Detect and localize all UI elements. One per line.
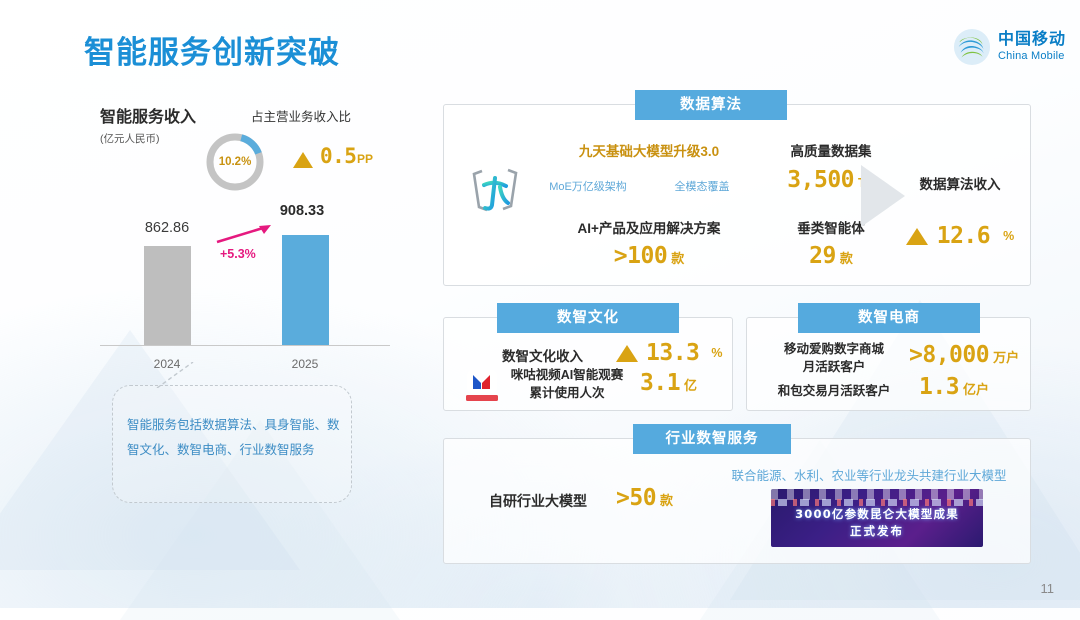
data-revenue-value-group: 12.6%: [896, 223, 1024, 249]
ecommerce-item2-title: 和包交易月活跃客户: [761, 380, 907, 399]
panel-data-algorithm: 数据算法 九天基础大模型升级3.0 MoE万亿级架构 全模态覆盖 AI+产品及应…: [443, 104, 1031, 286]
model-tag-2: 全模态覆盖: [648, 178, 756, 194]
industry-item1-value: >50: [616, 485, 656, 511]
dataset-title: 高质量数据集: [762, 140, 900, 160]
callout-text: 智能服务包括数据算法、具身智能、数智文化、数智电商、行业数智服务: [127, 413, 341, 463]
migu-value: 3.1: [640, 370, 680, 396]
migu-unit: 亿: [684, 375, 697, 394]
ecommerce-item1-title: 移动爱购数字商城 月活跃客户: [761, 340, 907, 376]
model-title: 九天基础大模型升级3.0: [540, 140, 758, 160]
industry-item1-value-group: >50款: [616, 485, 673, 511]
ecommerce-item1-value-group: >8,000万户: [909, 342, 1019, 368]
solution-title: AI+产品及应用解决方案: [540, 217, 758, 237]
culture-revenue-title: 数智文化收入: [502, 345, 583, 365]
stage-headline-line-2: 正式发布: [771, 523, 983, 539]
growth-arrow-icon: [215, 224, 273, 246]
growth-label: +5.3%: [220, 247, 256, 261]
culture-up-arrow-icon: [616, 345, 638, 362]
migu-title: 咪咕视频AI智能观赛 累计使用人次: [504, 366, 630, 402]
industry-item1-title: 自研行业大模型: [489, 491, 587, 511]
stage-photo: 3000亿参数昆仑大模型成果 正式发布: [771, 489, 983, 547]
panel-digital-culture: 数智文化 数智文化收入 13.3% 咪咕视频AI智能观赛 累计使用人次 3.1亿: [443, 317, 733, 411]
china-mobile-mark-icon: [953, 28, 991, 66]
migu-value-group: 3.1亿: [640, 370, 697, 396]
industry-subtitle: 联合能源、水利、农业等行业龙头共建行业大模型: [714, 465, 1024, 484]
stage-partner-logos: [771, 499, 983, 506]
ratio-delta-value: 0.5: [320, 144, 356, 168]
panel-digital-ecommerce: 数智电商 移动爱购数字商城 月活跃客户 >8,000万户 和包交易月活跃客户 1…: [746, 317, 1031, 411]
bar-2025: [282, 235, 329, 345]
revenue-bar-chart: 862.86 908.33 +5.3% 2024 2025: [100, 195, 400, 345]
data-revenue-up-arrow-icon: [906, 228, 928, 245]
agent-value-group: 29款: [762, 243, 900, 269]
data-revenue-title: 数据算法收入: [896, 173, 1024, 193]
logo-text-cn: 中国移动: [998, 32, 1066, 48]
migu-logo-icon: [464, 370, 500, 402]
chart-axis-line: [100, 345, 390, 347]
page-number: 11: [1041, 581, 1055, 596]
bar-2024: [144, 246, 191, 345]
panel-industry-service: 行业数智服务 自研行业大模型 >50款 联合能源、水利、农业等行业龙头共建行业大…: [443, 438, 1031, 564]
culture-revenue-value-group: 13.3%: [616, 340, 723, 366]
callout-tail-icon: [155, 362, 199, 388]
ecommerce-item1-unit: 万户: [993, 347, 1019, 366]
ecommerce-item2-unit: 亿户: [963, 379, 989, 398]
culture-revenue-value: 13.3: [646, 340, 699, 366]
ratio-up-arrow-icon: [293, 152, 313, 168]
agent-unit: 款: [840, 251, 853, 266]
model-tag-1: MoE万亿级架构: [534, 178, 642, 194]
ecommerce-item1-line-1: 移动爱购数字商城: [784, 342, 884, 356]
axis-label-2025: 2025: [245, 357, 365, 371]
data-revenue-value: 12.6: [937, 223, 990, 249]
jiutian-logo-icon: [464, 161, 526, 223]
ecommerce-item1-line-2: 月活跃客户: [803, 360, 866, 374]
ratio-title: 占主营业务收入比: [251, 106, 351, 125]
panel-industry-service-tab: 行业数智服务: [633, 424, 791, 454]
solution-value-group: >100款: [540, 243, 758, 269]
dataset-value: 3,500: [787, 167, 854, 193]
panel-digital-culture-tab: 数智文化: [497, 303, 679, 333]
solution-value: >100: [614, 243, 667, 269]
industry-item1-unit: 款: [660, 490, 673, 509]
page-title: 智能服务创新突破: [84, 27, 340, 72]
migu-title-line-1: 咪咕视频AI智能观赛: [511, 368, 624, 382]
stage-headline-line-1: 3000亿参数昆仑大模型成果: [771, 506, 983, 522]
china-mobile-logo: 中国移动 China Mobile: [953, 28, 1066, 66]
ratio-donut-chart: 10.2%: [203, 130, 267, 194]
bar-value-2024: 862.86: [107, 220, 227, 236]
culture-revenue-unit: %: [711, 346, 722, 360]
callout-box: 智能服务包括数据算法、具身智能、数智文化、数智电商、行业数智服务: [112, 385, 352, 503]
agent-value: 29: [809, 243, 836, 269]
solution-unit: 款: [671, 251, 684, 266]
data-revenue-unit: %: [1003, 229, 1014, 243]
migu-title-line-2: 累计使用人次: [529, 386, 604, 400]
ecommerce-item1-value: >8,000: [909, 342, 989, 368]
revenue-unit: (亿元人民币): [100, 131, 160, 146]
panel-digital-ecommerce-tab: 数智电商: [798, 303, 980, 333]
revenue-title: 智能服务收入: [100, 103, 196, 127]
panel-data-algorithm-tab: 数据算法: [635, 90, 787, 120]
ratio-delta-unit: PP: [357, 152, 373, 166]
ratio-value: 10.2%: [203, 130, 267, 194]
bar-value-2025: 908.33: [242, 203, 362, 219]
logo-text-en: China Mobile: [998, 51, 1066, 62]
ecommerce-item2-value: 1.3: [919, 374, 959, 400]
ecommerce-item2-value-group: 1.3亿户: [919, 374, 989, 400]
